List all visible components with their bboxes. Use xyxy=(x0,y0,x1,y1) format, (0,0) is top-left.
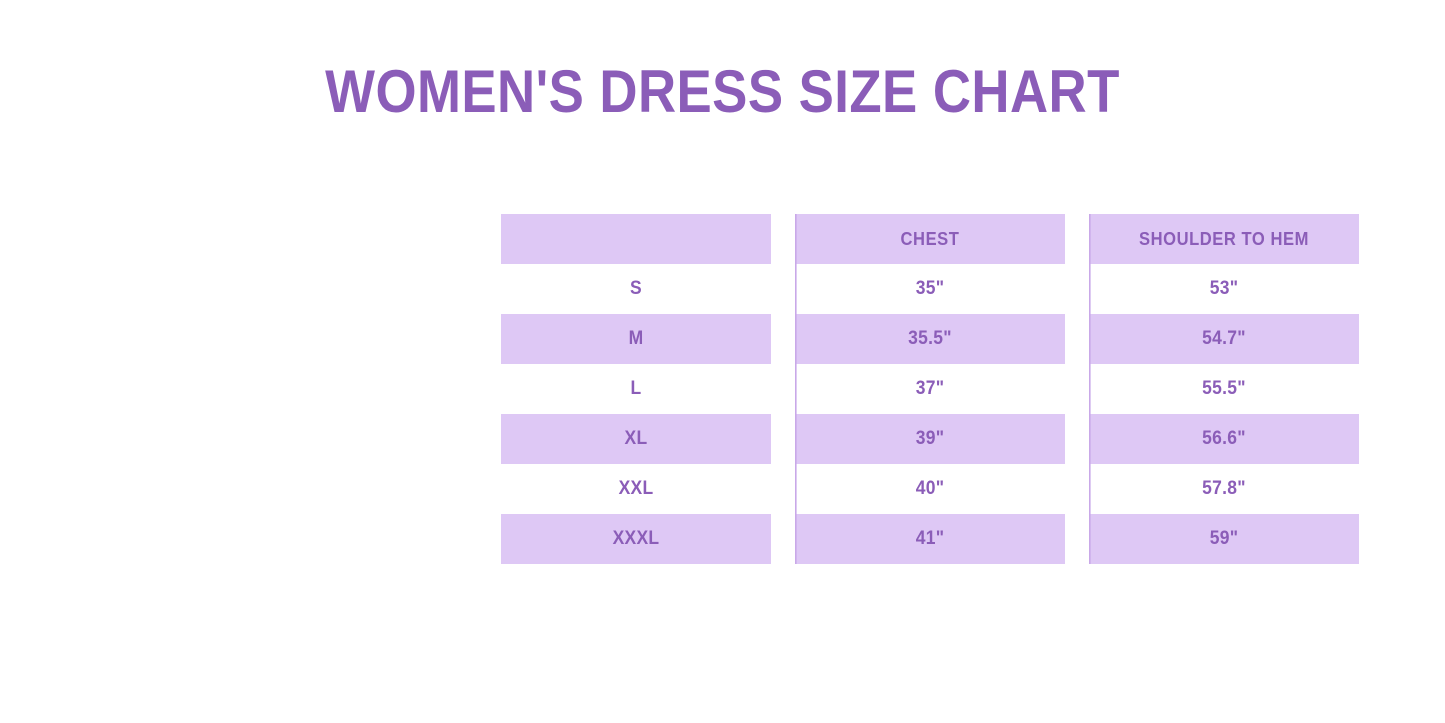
cell-shoulder-to-hem: 53" xyxy=(1089,264,1359,314)
table-row: S 35" 53" xyxy=(489,264,1371,314)
cell-chest: 35.5" xyxy=(795,314,1065,364)
column-header-chest: CHEST xyxy=(795,214,1065,264)
column-header-size xyxy=(501,214,771,264)
cell-shoulder-to-hem: 59" xyxy=(1089,514,1359,564)
cell-size: S xyxy=(501,264,771,314)
cell-size: XXL xyxy=(501,464,771,514)
cell-chest: 40" xyxy=(795,464,1065,514)
cell-size: XL xyxy=(501,414,771,464)
table-row: M 35.5" 54.7" xyxy=(489,314,1371,364)
cell-shoulder-to-hem: 54.7" xyxy=(1089,314,1359,364)
size-chart-page: WOMEN'S DRESS SIZE CHART CHEST SHOULDER … xyxy=(0,0,1445,723)
table-row: XXL 40" 57.8" xyxy=(489,464,1371,514)
cell-size: XXXL xyxy=(501,514,771,564)
cell-shoulder-to-hem: 56.6" xyxy=(1089,414,1359,464)
cell-chest: 41" xyxy=(795,514,1065,564)
cell-shoulder-to-hem: 57.8" xyxy=(1089,464,1359,514)
table-row: L 37" 55.5" xyxy=(489,364,1371,414)
page-title: WOMEN'S DRESS SIZE CHART xyxy=(87,56,1359,128)
cell-shoulder-to-hem: 55.5" xyxy=(1089,364,1359,414)
size-chart-table: CHEST SHOULDER TO HEM S 35" 53" M 35.5" … xyxy=(489,214,1371,564)
cell-size: L xyxy=(501,364,771,414)
cell-chest: 37" xyxy=(795,364,1065,414)
table-row: XXXL 41" 59" xyxy=(489,514,1371,564)
table-row: XL 39" 56.6" xyxy=(489,414,1371,464)
cell-chest: 35" xyxy=(795,264,1065,314)
cell-size: M xyxy=(501,314,771,364)
table-header-row: CHEST SHOULDER TO HEM xyxy=(489,214,1371,264)
column-header-shoulder-to-hem: SHOULDER TO HEM xyxy=(1089,214,1359,264)
cell-chest: 39" xyxy=(795,414,1065,464)
